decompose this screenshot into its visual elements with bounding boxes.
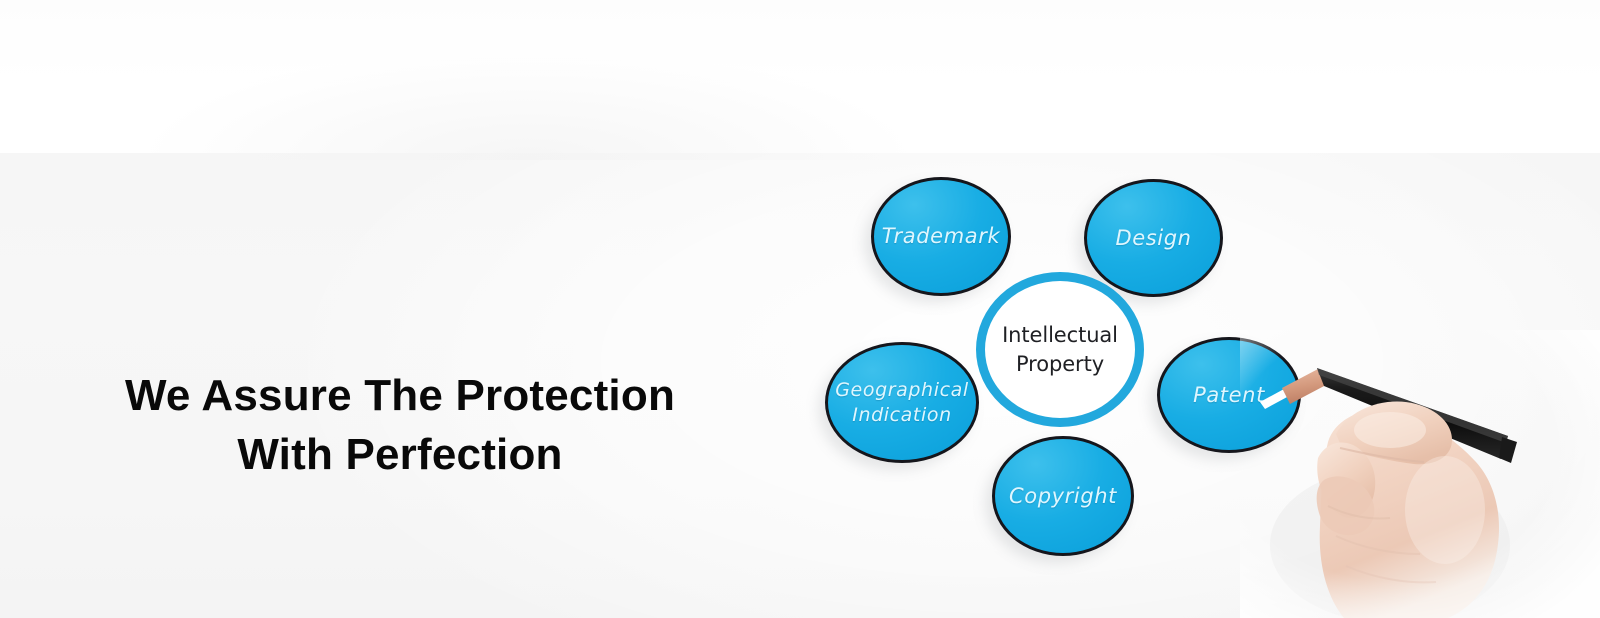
bubble-geographical-indication-line-1: Geographical (835, 379, 969, 401)
hand-holding-pencil-icon (1240, 330, 1600, 618)
bubble-copyright-label: Copyright (1003, 484, 1123, 509)
center-node-label: Intellectual Property (1002, 321, 1118, 379)
bubble-copyright[interactable]: Copyright (992, 436, 1134, 556)
bubble-trademark-label: Trademark (876, 224, 1006, 249)
bubble-geographical-indication-label: Geographical Indication (829, 378, 975, 428)
bubble-geographical-indication-line-2: Indication (852, 404, 951, 426)
bubble-geographical-indication[interactable]: Geographical Indication (825, 342, 979, 463)
center-node-intellectual-property[interactable]: Intellectual Property (976, 272, 1144, 427)
hero-banner: We Assure The Protection With Perfection… (0, 0, 1600, 618)
intellectual-property-diagram: Trademark Design Geographical Indication… (0, 0, 1600, 618)
bubble-trademark[interactable]: Trademark (871, 177, 1011, 296)
bubble-design-label: Design (1109, 226, 1197, 251)
center-node-line-1: Intellectual (1002, 323, 1118, 347)
center-node-line-2: Property (1016, 352, 1104, 376)
bubble-design[interactable]: Design (1084, 179, 1223, 297)
